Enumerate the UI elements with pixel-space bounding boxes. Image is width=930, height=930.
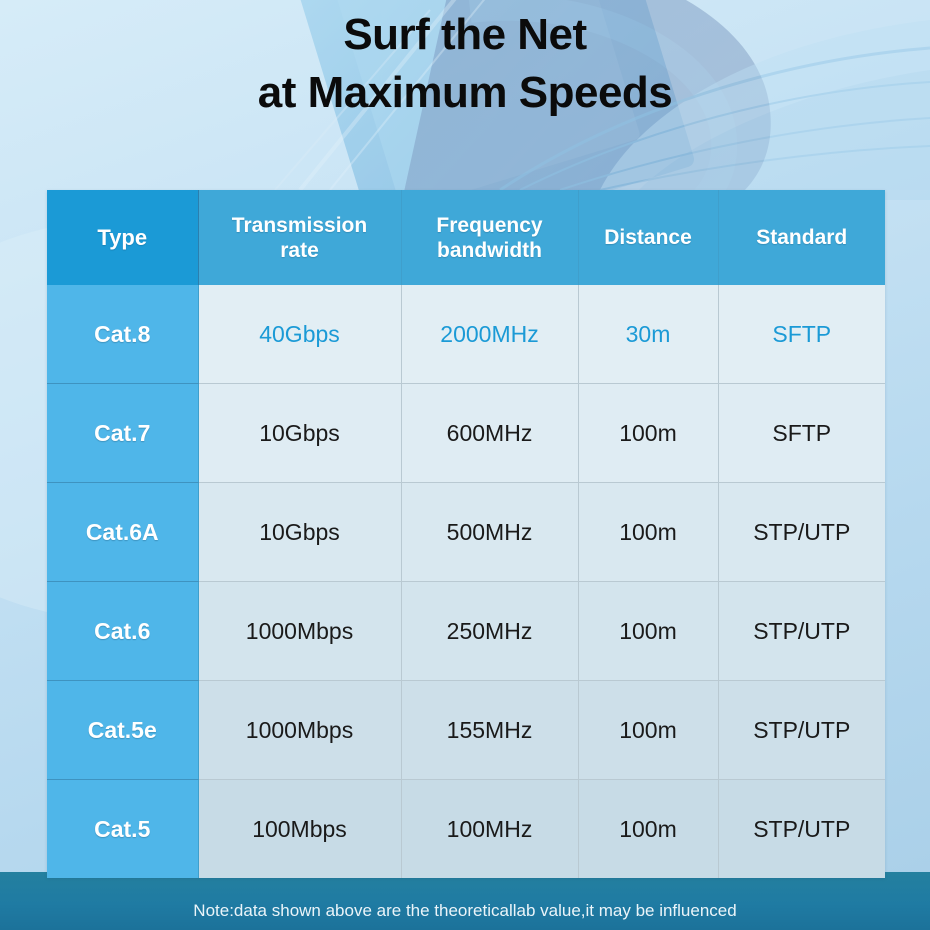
column-header-frequency-line1: Frequency [436,214,542,237]
column-header-distance-label: Distance [604,226,692,249]
footer-note: Note:data shown above are the theoretica… [0,898,930,924]
promo-page: Surf the Net at Maximum Speeds Type Tran… [0,0,930,930]
column-header-distance: Distance [578,190,718,285]
spec-table-container: Type Transmission rate Frequency bandwid… [47,190,885,878]
cell-frequency-bandwidth: 250MHz [401,582,578,681]
cell-distance: 30m [578,285,718,384]
cell-type: Cat.6 [47,582,198,681]
table-header: Type Transmission rate Frequency bandwid… [47,190,885,285]
cell-type: Cat.5 [47,780,198,879]
cell-standard: STP/UTP [718,582,885,681]
cell-distance: 100m [578,582,718,681]
cell-distance: 100m [578,483,718,582]
column-header-type-label: Type [97,225,147,250]
column-header-frequency-bandwidth: Frequency bandwidth [401,190,578,285]
cell-transmission-rate: 100Mbps [198,780,401,879]
cell-distance: 100m [578,384,718,483]
page-title: Surf the Net at Maximum Speeds [0,6,930,122]
column-header-frequency-line2: bandwidth [437,239,542,262]
title-line-2: at Maximum Speeds [0,64,930,122]
cell-standard: STP/UTP [718,681,885,780]
cell-type: Cat.7 [47,384,198,483]
column-header-transmission-rate: Transmission rate [198,190,401,285]
cell-frequency-bandwidth: 500MHz [401,483,578,582]
column-header-standard-label: Standard [756,226,847,249]
cell-frequency-bandwidth: 100MHz [401,780,578,879]
table-body: Cat.840Gbps2000MHz30mSFTPCat.710Gbps600M… [47,285,885,878]
title-line-1: Surf the Net [0,6,930,64]
table-header-row: Type Transmission rate Frequency bandwid… [47,190,885,285]
cell-standard: SFTP [718,285,885,384]
column-header-standard: Standard [718,190,885,285]
table-row: Cat.61000Mbps250MHz100mSTP/UTP [47,582,885,681]
table-row: Cat.840Gbps2000MHz30mSFTP [47,285,885,384]
cell-type: Cat.5e [47,681,198,780]
table-row: Cat.5100Mbps100MHz100mSTP/UTP [47,780,885,879]
cell-frequency-bandwidth: 2000MHz [401,285,578,384]
table-row: Cat.5e1000Mbps155MHz100mSTP/UTP [47,681,885,780]
column-header-transmission-line1: Transmission [232,214,367,237]
table-row: Cat.710Gbps600MHz100mSFTP [47,384,885,483]
table-row: Cat.6A10Gbps500MHz100mSTP/UTP [47,483,885,582]
cell-transmission-rate: 1000Mbps [198,582,401,681]
cell-standard: STP/UTP [718,483,885,582]
column-header-type: Type [47,190,198,285]
cell-frequency-bandwidth: 600MHz [401,384,578,483]
cell-transmission-rate: 10Gbps [198,384,401,483]
spec-table: Type Transmission rate Frequency bandwid… [47,190,885,878]
cell-transmission-rate: 1000Mbps [198,681,401,780]
cell-transmission-rate: 40Gbps [198,285,401,384]
cell-standard: SFTP [718,384,885,483]
cell-standard: STP/UTP [718,780,885,879]
column-header-transmission-line2: rate [280,239,319,262]
cell-type: Cat.6A [47,483,198,582]
cell-transmission-rate: 10Gbps [198,483,401,582]
cell-frequency-bandwidth: 155MHz [401,681,578,780]
cell-distance: 100m [578,780,718,879]
cell-type: Cat.8 [47,285,198,384]
cell-distance: 100m [578,681,718,780]
